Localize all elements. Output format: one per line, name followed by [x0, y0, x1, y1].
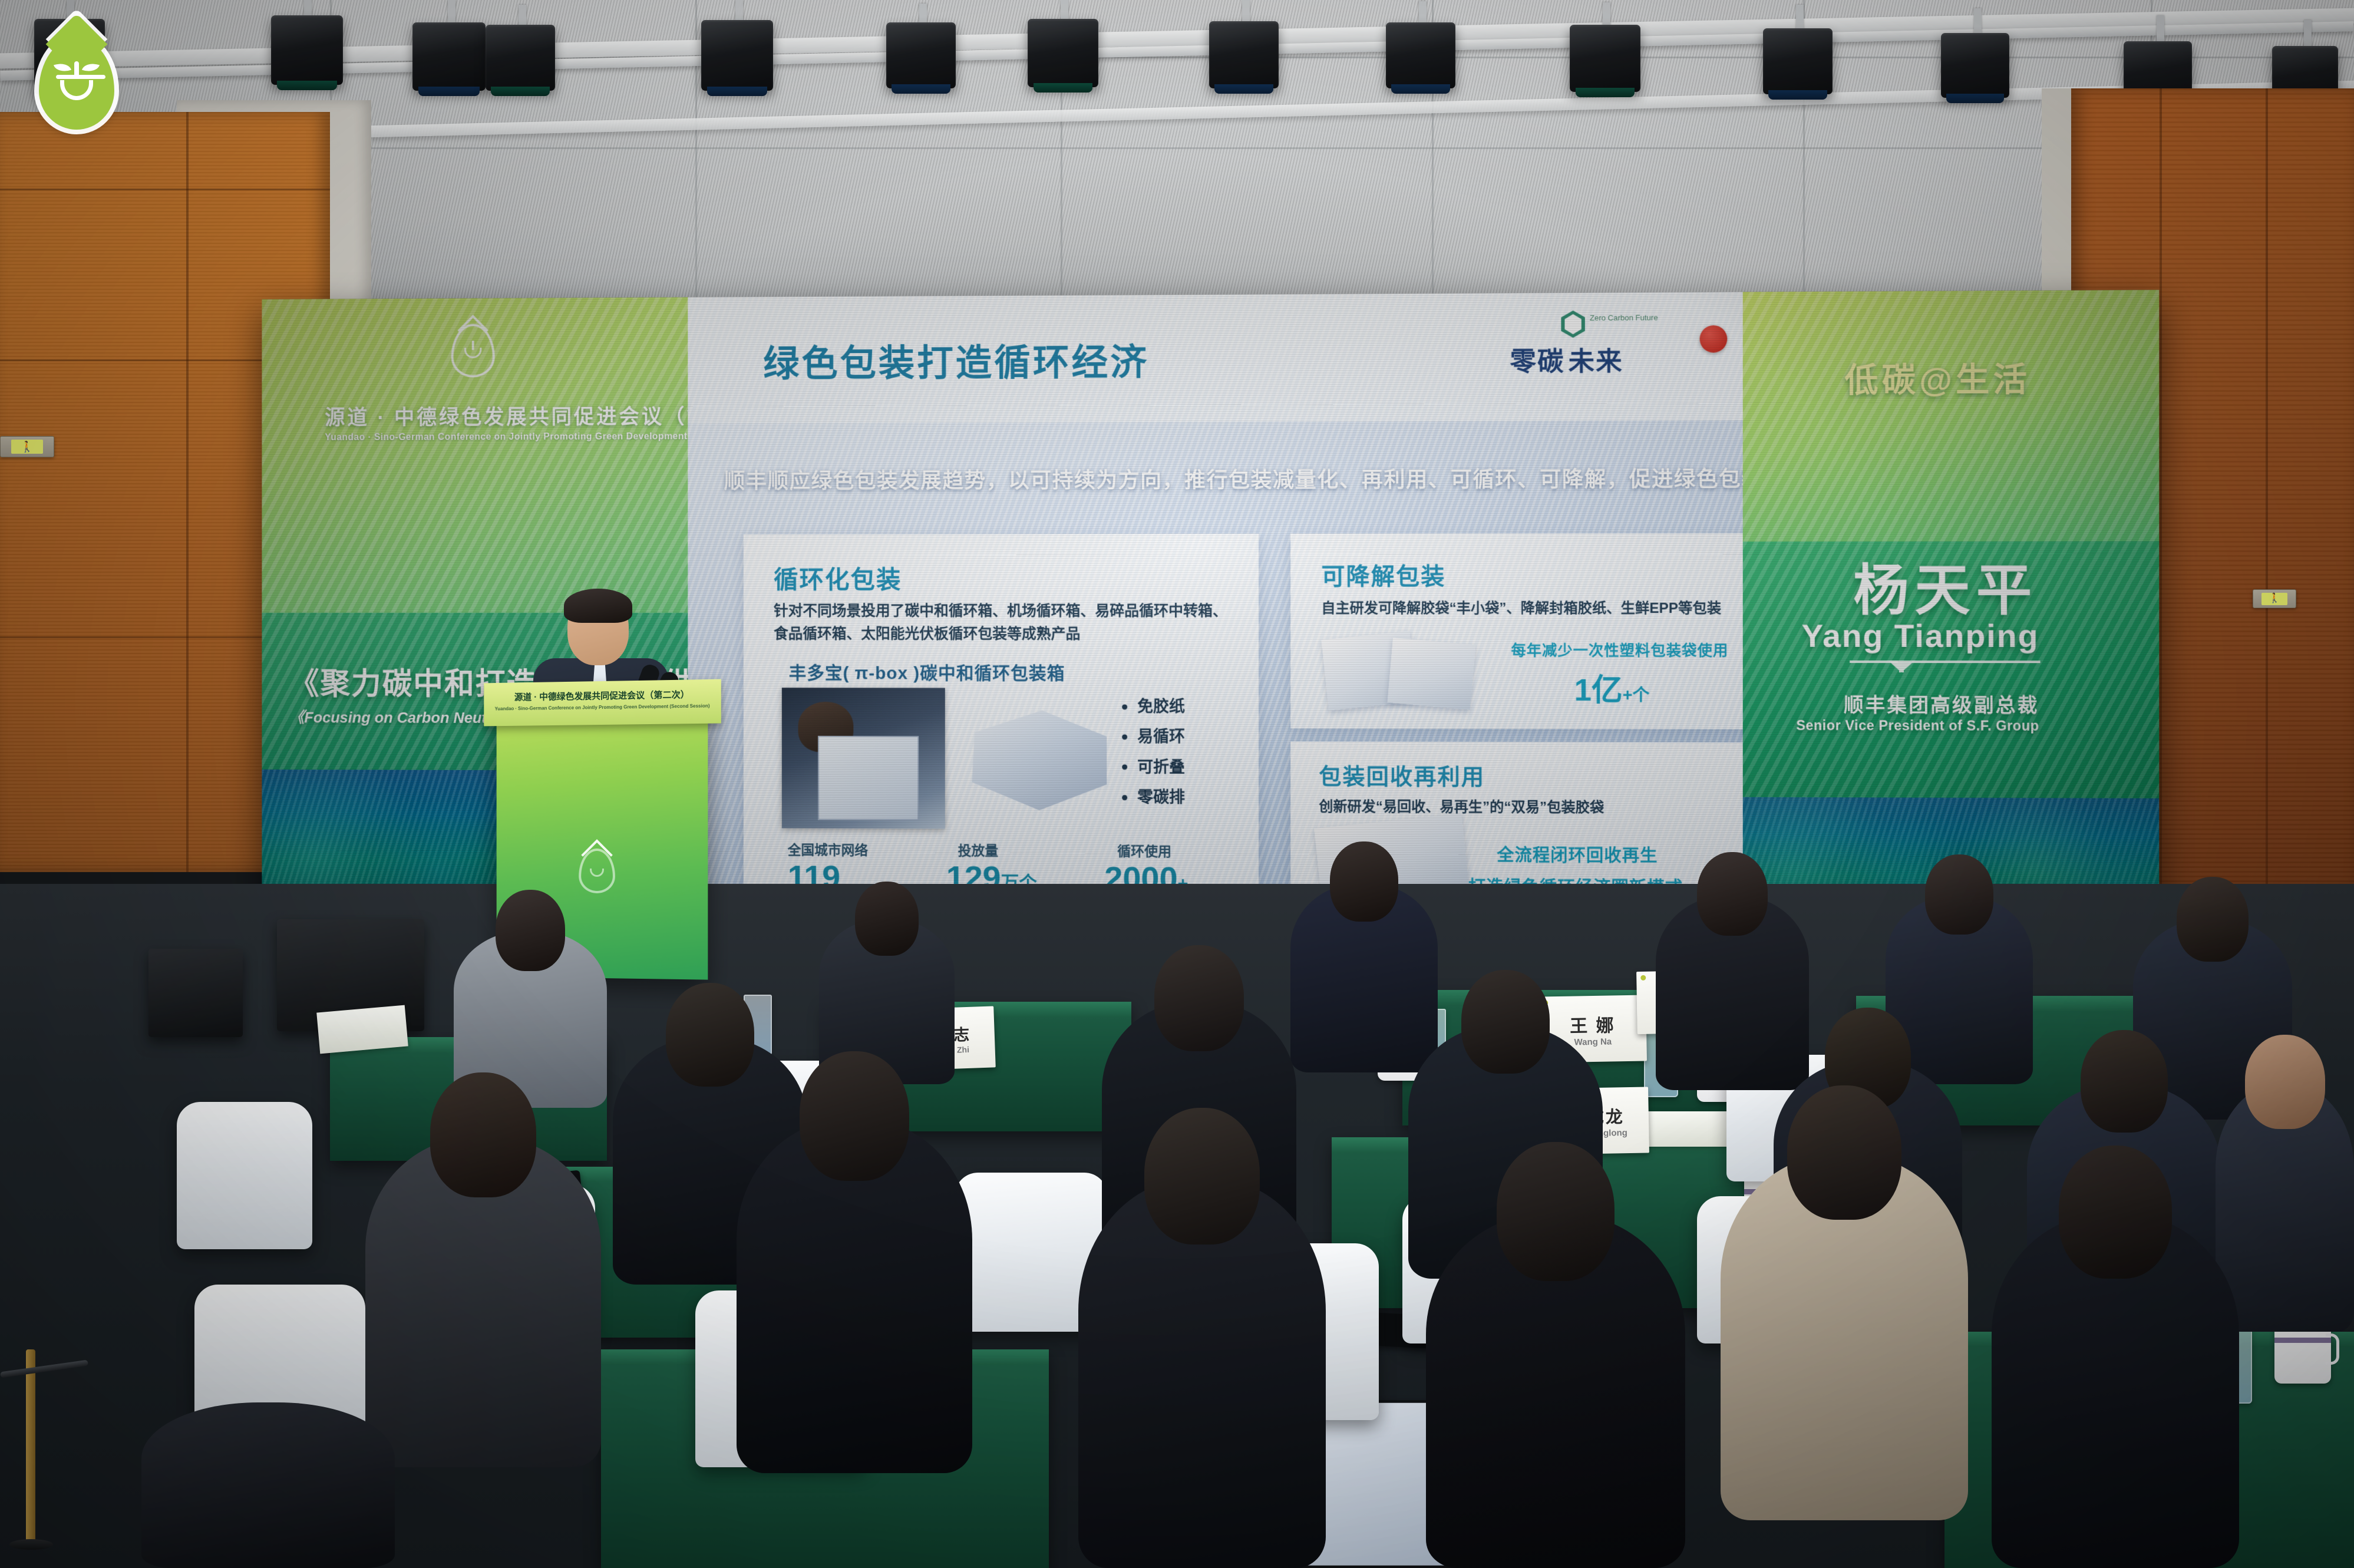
person-head — [666, 983, 754, 1087]
stage-spotlight — [1941, 33, 2009, 98]
floor-monitor-speaker — [148, 949, 243, 1037]
stage-spotlight — [412, 22, 486, 91]
person-head — [1925, 854, 1993, 935]
spot-yoke — [1061, 0, 1068, 21]
speaker-divider — [1912, 661, 2040, 663]
stage-spotlight — [1028, 19, 1098, 87]
podium-band-cn: 源道 · 中德绿色发展共同促进会议（第二次） — [484, 688, 721, 704]
card-body: 自主研发可降解胶袋“丰小袋”、降解封箱胶纸、生鲜EPP等包装 — [1321, 598, 1762, 620]
audience-person — [365, 1137, 601, 1467]
running-person-icon: 🚶 — [11, 440, 43, 454]
person-head — [1330, 841, 1398, 922]
pi-box-feature-list: 免胶纸 易循环 可折叠 零碳排 — [1117, 692, 1185, 813]
person-head — [1787, 1085, 1901, 1220]
stat-label: 循环使用 — [1117, 840, 1171, 860]
spot-yoke — [1242, 0, 1250, 24]
spot-yoke — [2304, 20, 2312, 47]
zero-carbon-cn: 零碳 — [1510, 340, 1564, 378]
list-item: 易循环 — [1117, 722, 1185, 752]
future-cn: 未来 — [1569, 340, 1623, 378]
chevron-down-icon — [1888, 661, 1914, 672]
stage-spotlight — [1763, 28, 1833, 94]
zero-carbon-future-en: Zero Carbon Future — [1590, 313, 1662, 323]
sprout-cup-icon — [60, 80, 93, 100]
pi-box-photo — [782, 688, 945, 828]
speaker-name-en: Yang Tianping — [1801, 618, 2039, 655]
spot-yoke — [1603, 2, 1610, 26]
stage-spotlight — [1209, 21, 1279, 88]
sf-express-logo — [1700, 325, 1728, 353]
audience-person — [737, 1120, 972, 1473]
degradable-stat-value: 1亿+个 — [1574, 665, 1650, 710]
person-torso — [141, 1402, 395, 1568]
running-person-icon: 🚶 — [2261, 593, 2287, 605]
person-head — [1697, 852, 1768, 936]
person-head — [430, 1072, 536, 1197]
list-item: 免胶纸 — [1117, 692, 1185, 722]
speaker-name-cn: 杨天平 — [1853, 546, 2038, 626]
stage-spotlight — [486, 25, 555, 91]
spot-yoke — [1419, 1, 1427, 24]
card-heading: 可降解包装 — [1321, 557, 1445, 592]
stage-spotlight — [271, 15, 343, 85]
spot-yoke — [2157, 15, 2164, 42]
slide-subtitle: 顺丰顺应绿色包装发展趋势，以可持续为方向，推行包装减量化、再利用、可循环、可降解… — [717, 461, 1839, 494]
card-body: 针对不同场景投用了碳中和循环箱、机场循环箱、易碎品循环中转箱、食品循环箱、太阳能… — [774, 600, 1236, 646]
spot-yoke — [448, 0, 455, 25]
degradable-bag-mockup — [1387, 638, 1475, 709]
person-head — [855, 882, 919, 956]
person-head — [2177, 877, 2249, 962]
presentation-slide: 绿色包装打造循环经济 Zero Carbon Future 零碳 未来 顺丰顺应… — [688, 290, 1868, 924]
person-head — [1497, 1142, 1615, 1281]
stanchion-base — [9, 1539, 53, 1550]
person-head — [1154, 945, 1244, 1051]
droplet-sprout-icon — [579, 849, 615, 893]
podium-band-en: Yuandao · Sino-German Conference on Join… — [484, 703, 721, 712]
person-head — [1144, 1108, 1260, 1245]
speaker-hair — [564, 589, 632, 623]
speaker-title-cn: 顺丰集团高级副总裁 — [1844, 689, 2039, 718]
audience-person — [1721, 1155, 1968, 1520]
low-carbon-life-tagline: 低碳@生活 — [1844, 352, 2031, 401]
list-item: 可折叠 — [1117, 752, 1185, 783]
card-body: 创新研发“易回收、易再生”的“双易”包装胶袋 — [1319, 796, 1759, 820]
card-heading: 包装回收再利用 — [1319, 758, 1485, 791]
pi-box-folded-illustration — [972, 710, 1107, 810]
spot-yoke — [519, 5, 526, 27]
card-product-title: 丰多宝( π-box )碳中和循环包装箱 — [789, 658, 1065, 684]
podium-top-surface: 源道 · 中德绿色发展共同促进会议（第二次） Yuandao · Sino-Ge… — [484, 679, 721, 727]
emergency-exit-sign: 🚶 — [0, 436, 54, 457]
stage-spotlight — [1386, 22, 1455, 88]
person-head — [1461, 970, 1550, 1074]
stage-spotlight — [1570, 25, 1640, 92]
emergency-exit-sign: 🚶 — [2253, 589, 2296, 608]
person-head — [496, 890, 565, 971]
zero-carbon-future-logo: Zero Carbon Future 零碳 未来 — [1510, 331, 1623, 378]
stat-label: 全国城市网络 — [788, 839, 868, 859]
spot-yoke — [1974, 8, 1982, 34]
spot-yoke — [1796, 5, 1804, 29]
list-item: 零碳排 — [1117, 783, 1185, 813]
stage-spotlight — [886, 22, 956, 88]
placard-logo-dot — [1640, 975, 1646, 981]
document-paper — [316, 1005, 408, 1054]
stanchion-post — [26, 1349, 35, 1544]
speaker-title-en: Senior Vice President of S.F. Group — [1796, 718, 2039, 734]
person-head — [800, 1051, 909, 1181]
degradable-stat-label: 每年减少一次性塑料包装袋使用 — [1511, 639, 1729, 660]
spot-yoke — [735, 0, 743, 21]
spot-yoke — [919, 4, 927, 24]
conference-photo-scene: 🚶 🚶 源道 · 中德绿色发展共同促进会议（第二次） Yuandao · Sin… — [0, 0, 2354, 1568]
stat-label: 投放量 — [958, 839, 999, 859]
person-head — [2081, 1030, 2168, 1133]
person-head — [2245, 1035, 2325, 1129]
audience-person — [1426, 1214, 1685, 1568]
stage-spotlight — [701, 20, 773, 91]
stat-unit: +个 — [1623, 686, 1650, 705]
slide-card-degradable-packaging: 可降解包装 自主研发可降解胶袋“丰小袋”、降解封箱胶纸、生鲜EPP等包装 每年减… — [1290, 533, 1779, 729]
card-heading: 循环化包装 — [774, 560, 902, 596]
audience-person — [1078, 1179, 1326, 1568]
audience-chair — [177, 1102, 312, 1249]
audience-person — [141, 1402, 395, 1568]
recycling-highlight-1: 全流程闭环回收再生 — [1497, 841, 1658, 867]
person-head — [2059, 1146, 2172, 1279]
stat-number: 1亿 — [1574, 674, 1623, 708]
slide-card-circular-packaging: 循环化包装 针对不同场景投用了碳中和循环箱、机场循环箱、易碎品循环中转箱、食品循… — [744, 534, 1259, 912]
audience-person — [1992, 1214, 2239, 1568]
slide-title: 绿色包装打造循环经济 — [763, 332, 1149, 387]
